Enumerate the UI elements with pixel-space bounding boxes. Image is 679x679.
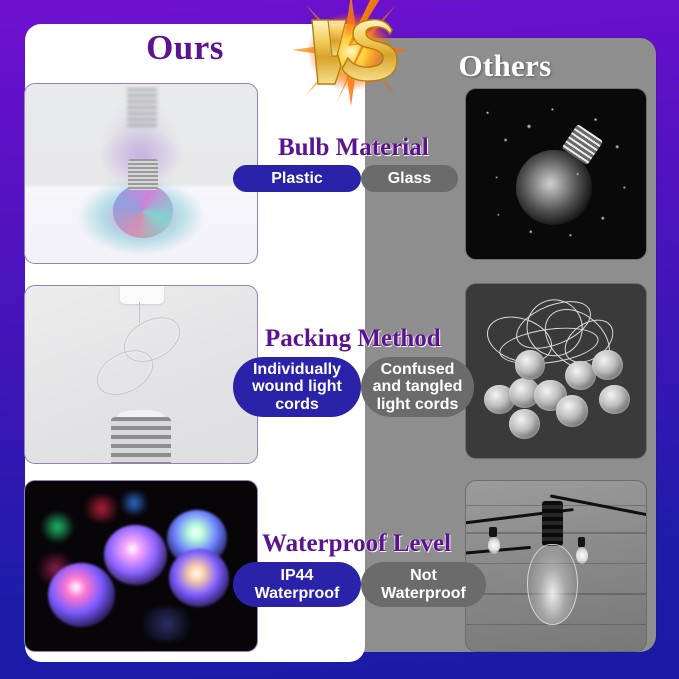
mini-socket: [489, 527, 496, 537]
ours-heading: Ours: [25, 28, 345, 68]
clear-globe-bulb: [515, 350, 546, 380]
ours-photo-bulb-material: [24, 83, 258, 264]
bulb-screw-cap: [128, 159, 158, 189]
clear-globe-bulb: [556, 395, 588, 426]
clear-globe-bulb: [565, 361, 596, 391]
bulb-ghost-cap-icon: [127, 88, 157, 127]
lit-globe-bulb: [48, 563, 115, 628]
mini-socket: [578, 537, 585, 547]
others-value-bulb-material: Glass: [361, 165, 458, 192]
ours-value-packing-method: Individually wound light cords: [233, 357, 361, 417]
colorful-bulb-glass: [113, 184, 173, 238]
ours-photo-waterproof-level: [24, 480, 258, 652]
distant-bulb: [488, 537, 501, 554]
row-title-packing-method: Packing Method: [265, 325, 441, 353]
others-photo-waterproof-level: [465, 480, 647, 652]
clear-globe-bulb: [599, 385, 630, 415]
others-value-waterproof-level: Not Waterproof: [361, 562, 486, 607]
clear-globe-bulb: [509, 409, 540, 439]
others-value-packing-method: Confused and tangled light cords: [361, 357, 474, 417]
others-photo-packing-method: [465, 283, 647, 459]
lit-globe-bulb: [169, 549, 229, 607]
light-spark: [118, 491, 150, 515]
ours-value-waterproof-level: IP44 Waterproof: [233, 562, 361, 607]
light-spark: [136, 607, 196, 641]
others-heading: Others: [400, 48, 610, 84]
clear-g40-bulb: [527, 544, 577, 626]
clear-globe-bulb: [592, 350, 623, 380]
row-title-bulb-material: Bulb Material: [278, 134, 429, 162]
cord-hanger: [120, 286, 164, 304]
cord-stem: [139, 302, 141, 323]
bulb-screw-base: [111, 417, 171, 464]
light-spark: [81, 495, 123, 522]
lit-globe-bulb: [104, 525, 167, 585]
others-photo-bulb-material: [465, 88, 647, 260]
ours-photo-packing-method: [24, 285, 258, 464]
light-spark: [39, 512, 76, 543]
black-socket: [542, 501, 564, 545]
ours-value-bulb-material: Plastic: [233, 165, 361, 192]
infographic-stage: Ours Others: [0, 0, 679, 679]
row-title-waterproof-level: Waterproof Level: [262, 530, 451, 558]
